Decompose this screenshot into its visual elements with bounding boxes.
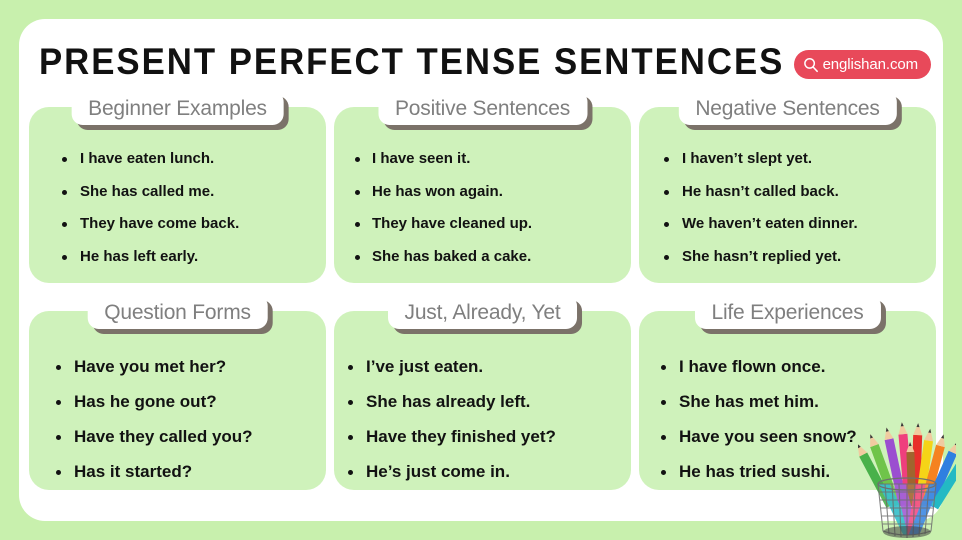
card-title-pill: Just, Already, Yet [388,295,578,329]
card-life-experiences: Life Experiences I have flown once. She … [639,311,936,490]
list-item: Have they called you? [29,419,326,454]
list-item: They have come back. [29,208,326,241]
list-item: They have cleaned up. [334,208,631,241]
list-item: She has baked a cake. [334,241,631,274]
list-item: Have you met her? [29,349,326,384]
list-item: Have you seen snow? [639,419,936,454]
sentence-list: I have eaten lunch. She has called me. T… [29,143,326,273]
card-title: Negative Sentences [695,98,879,119]
content-panel: PRESENT PERFECT TENSE SENTENCES englisha… [19,19,943,521]
cards-grid: Beginner Examples I have eaten lunch. Sh… [19,19,943,521]
list-item: She has already left. [334,384,631,419]
sentence-list: I have flown once. She has met him. Have… [639,349,936,489]
list-item: He has tried sushi. [639,454,936,489]
list-item: He hasn’t called back. [639,176,936,209]
card-title: Beginner Examples [88,98,267,119]
sentence-list: I’ve just eaten. She has already left. H… [334,349,631,489]
card-title-pill: Positive Sentences [378,91,587,125]
sentence-list: I haven’t slept yet. He hasn’t called ba… [639,143,936,273]
card-just-already-yet: Just, Already, Yet I’ve just eaten. She … [334,311,631,490]
card-title-pill: Life Experiences [694,295,880,329]
sentence-list: I have seen it. He has won again. They h… [334,143,631,273]
list-item: I have seen it. [334,143,631,176]
list-item: He has won again. [334,176,631,209]
list-item: We haven’t eaten dinner. [639,208,936,241]
list-item: She hasn’t replied yet. [639,241,936,274]
card-title: Just, Already, Yet [405,302,561,323]
card-title-pill: Beginner Examples [71,91,284,125]
card-question-forms: Question Forms Have you met her? Has he … [29,311,326,490]
list-item: Has he gone out? [29,384,326,419]
list-item: Have they finished yet? [334,419,631,454]
list-item: I’ve just eaten. [334,349,631,384]
card-title: Question Forms [104,302,251,323]
sentence-list: Have you met her? Has he gone out? Have … [29,349,326,489]
list-item: She has called me. [29,176,326,209]
card-title: Life Experiences [711,302,863,323]
list-item: He’s just come in. [334,454,631,489]
card-positive-sentences: Positive Sentences I have seen it. He ha… [334,107,631,283]
list-item: I have eaten lunch. [29,143,326,176]
list-item: She has met him. [639,384,936,419]
card-title: Positive Sentences [395,98,570,119]
card-beginner-examples: Beginner Examples I have eaten lunch. Sh… [29,107,326,283]
card-title-pill: Negative Sentences [678,91,896,125]
poster: PRESENT PERFECT TENSE SENTENCES englisha… [0,0,962,540]
list-item: Has it started? [29,454,326,489]
list-item: I have flown once. [639,349,936,384]
card-title-pill: Question Forms [87,295,268,329]
list-item: He has left early. [29,241,326,274]
list-item: I haven’t slept yet. [639,143,936,176]
card-negative-sentences: Negative Sentences I haven’t slept yet. … [639,107,936,283]
